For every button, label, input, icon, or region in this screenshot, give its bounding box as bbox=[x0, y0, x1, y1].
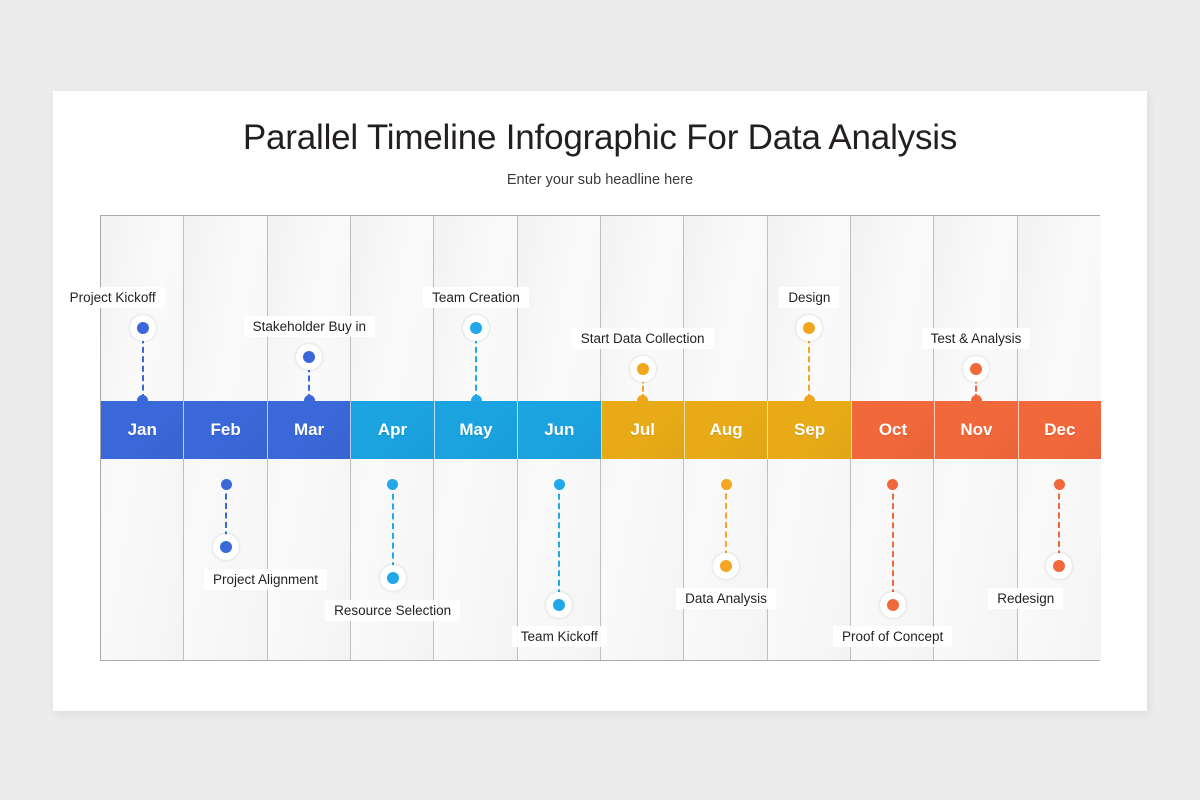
milestone-label[interactable]: Stakeholder Buy in bbox=[244, 316, 375, 337]
month-cell-feb[interactable]: Feb bbox=[184, 401, 267, 459]
milestone-axis-dot bbox=[387, 479, 398, 490]
milestone-label[interactable]: Redesign bbox=[988, 588, 1063, 609]
milestone-marker-dot[interactable] bbox=[130, 315, 156, 341]
milestone-axis-dot bbox=[721, 479, 732, 490]
month-cell-jul[interactable]: Jul bbox=[602, 401, 685, 459]
month-cell-mar[interactable]: Mar bbox=[268, 401, 351, 459]
milestone-label[interactable]: Resource Selection bbox=[325, 600, 460, 621]
month-cell-nov[interactable]: Nov bbox=[935, 401, 1018, 459]
page-subtitle: Enter your sub headline here bbox=[53, 172, 1147, 188]
milestone-axis-dot bbox=[554, 479, 565, 490]
milestone-dot-core bbox=[887, 599, 899, 611]
milestone-dot-core bbox=[303, 351, 315, 363]
month-cell-dec[interactable]: Dec bbox=[1019, 401, 1101, 459]
slide-card: Parallel Timeline Infographic For Data A… bbox=[53, 91, 1147, 711]
milestone-dot-core bbox=[387, 572, 399, 584]
timeline-chart: Project KickoffStakeholder Buy inTeam Cr… bbox=[100, 215, 1100, 661]
milestone-axis-dot bbox=[1054, 479, 1065, 490]
milestone-dot-core bbox=[470, 322, 482, 334]
month-cell-sep[interactable]: Sep bbox=[768, 401, 851, 459]
milestone-dot-core bbox=[970, 363, 982, 375]
month-cell-aug[interactable]: Aug bbox=[685, 401, 768, 459]
milestone-marker-dot[interactable] bbox=[213, 534, 239, 560]
milestone-label[interactable]: Proof of Concept bbox=[833, 626, 952, 647]
milestone-label[interactable]: Project Kickoff bbox=[61, 287, 165, 308]
milestone-label[interactable]: Data Analysis bbox=[676, 588, 776, 609]
milestone-marker-dot[interactable] bbox=[713, 553, 739, 579]
month-cell-jun[interactable]: Jun bbox=[518, 401, 601, 459]
page-title: Parallel Timeline Infographic For Data A… bbox=[53, 118, 1147, 158]
month-cell-apr[interactable]: Apr bbox=[351, 401, 434, 459]
milestone-marker-dot[interactable] bbox=[630, 356, 656, 382]
month-cell-oct[interactable]: Oct bbox=[852, 401, 935, 459]
milestone-dot-core bbox=[553, 599, 565, 611]
milestone-marker-dot[interactable] bbox=[380, 565, 406, 591]
milestone-dot-core bbox=[637, 363, 649, 375]
milestone-marker-dot[interactable] bbox=[963, 356, 989, 382]
milestone-connector-line bbox=[558, 484, 560, 605]
month-axis-bar: JanFebMarAprMayJunJulAugSepOctNovDec bbox=[101, 401, 1101, 459]
milestone-dot-core bbox=[720, 560, 732, 572]
milestone-connector-line bbox=[892, 484, 894, 605]
milestone-label[interactable]: Team Kickoff bbox=[512, 626, 607, 647]
milestone-label[interactable]: Team Creation bbox=[423, 287, 529, 308]
milestone-label[interactable]: Test & Analysis bbox=[922, 328, 1031, 349]
milestone-marker-dot[interactable] bbox=[463, 315, 489, 341]
month-cell-may[interactable]: May bbox=[435, 401, 518, 459]
milestone-marker-dot[interactable] bbox=[880, 592, 906, 618]
milestone-dot-core bbox=[220, 541, 232, 553]
milestone-dot-core bbox=[803, 322, 815, 334]
milestone-label[interactable]: Project Alignment bbox=[204, 569, 327, 590]
milestone-dot-core bbox=[1053, 560, 1065, 572]
milestone-axis-dot bbox=[887, 479, 898, 490]
milestone-label[interactable]: Start Data Collection bbox=[572, 328, 714, 349]
month-cell-jan[interactable]: Jan bbox=[101, 401, 184, 459]
milestone-axis-dot bbox=[221, 479, 232, 490]
milestone-dot-core bbox=[137, 322, 149, 334]
milestone-connector-line bbox=[392, 484, 394, 578]
milestone-label[interactable]: Design bbox=[779, 287, 839, 308]
